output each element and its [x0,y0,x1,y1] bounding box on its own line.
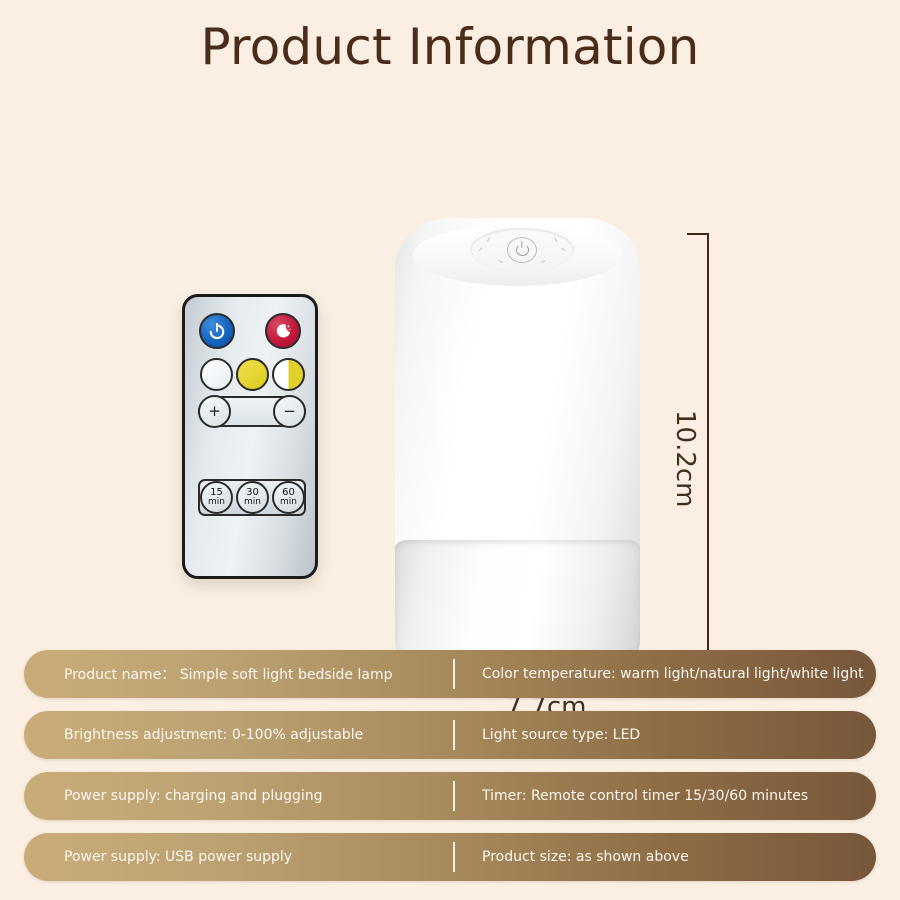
timer-30-unit: min [244,498,261,507]
remote-control: + − 15 min 30 min 60 min [182,294,318,579]
row-divider [453,720,455,750]
remote-brightness-down-button[interactable]: − [273,395,306,428]
remote-white-light-button[interactable] [200,358,233,391]
table-row: Brightness adjustment: 0-100% adjustable… [24,711,876,759]
lamp-body [395,218,640,668]
spec-cell-right: Timer: Remote control timer 15/30/60 min… [482,788,808,804]
spec-cell-right: Product size: as shown above [482,849,689,865]
spec-cell-left: Brightness adjustment: 0-100% adjustable [64,727,363,743]
remote-face: + − 15 min 30 min 60 min [185,297,315,576]
table-row: Power supply: USB power supply Product s… [24,833,876,881]
timer-15-unit: min [208,498,225,507]
spec-cell-right: Color temperature: warm light/natural li… [482,666,864,682]
panel-tick-icon [554,237,557,242]
row-divider [453,659,455,689]
panel-tick-icon [478,248,483,252]
remote-timer-60-button[interactable]: 60 min [272,481,305,514]
lamp-base [395,540,640,668]
power-icon [516,244,529,256]
panel-tick-icon [498,260,503,263]
remote-brightness-up-button[interactable]: + [198,395,231,428]
remote-natural-light-button[interactable] [272,358,305,391]
table-row: Product name： Simple soft light bedside … [24,650,876,698]
moon-stars-icon [273,321,293,341]
table-row: Power supply: charging and plugging Time… [24,772,876,820]
spec-cell-right: Light source type: LED [482,727,640,743]
height-dimension-label: 10.2cm [670,410,700,508]
remote-timer-15-button[interactable]: 15 min [200,481,233,514]
lamp-touch-panel[interactable] [470,228,574,272]
remote-warm-light-button[interactable] [236,358,269,391]
remote-night-mode-button[interactable] [265,313,301,349]
power-icon [207,321,227,341]
panel-tick-icon [561,248,566,252]
row-divider [453,842,455,872]
bedside-lamp-image [395,218,640,668]
spec-cell-left: Product name： Simple soft light bedside … [64,664,393,684]
panel-tick-icon [487,237,490,242]
product-hero: + − 15 min 30 min 60 min [0,100,900,640]
specification-table: Product name： Simple soft light bedside … [24,650,876,894]
lamp-highlight [423,268,515,568]
panel-tick-icon [541,260,546,263]
page-title: Product Information [0,18,900,76]
remote-timer-30-button[interactable]: 30 min [236,481,269,514]
timer-60-unit: min [280,498,297,507]
panel-power-ring [507,237,537,263]
spec-cell-left: Power supply: USB power supply [64,849,292,865]
remote-power-button[interactable] [199,313,235,349]
spec-cell-left: Power supply: charging and plugging [64,788,323,804]
row-divider [453,781,455,811]
